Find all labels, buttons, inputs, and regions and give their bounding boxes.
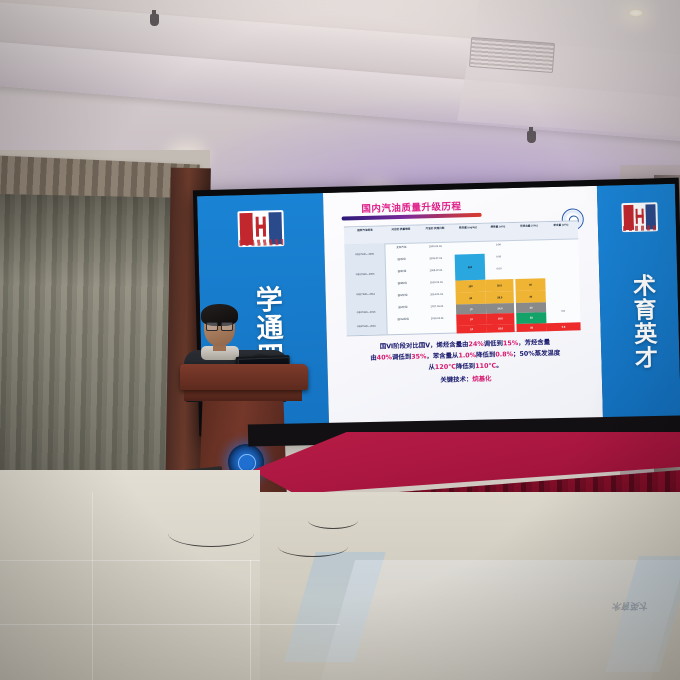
body-text: 。 bbox=[496, 361, 503, 369]
table-block-olefin: 15.0 bbox=[486, 324, 514, 333]
table-cell-aromatic bbox=[515, 254, 545, 255]
floor-cable bbox=[308, 512, 358, 529]
gasoline-standards-table: 国家汽油标准 对应的 质量等级 汽油的 实施日期 硫含量 (mg/kg) 烯烃量… bbox=[344, 220, 581, 336]
table-cell-benzene bbox=[546, 241, 576, 242]
floor-left-area bbox=[0, 470, 260, 680]
table-cell-grade: 国Ⅲ阶段 bbox=[387, 282, 417, 286]
table-cell-date: 2003-07-01 bbox=[419, 257, 453, 261]
floor-tile-seam bbox=[0, 624, 340, 625]
body-highlight: 110℃ bbox=[475, 362, 496, 371]
table-cell-grade: 国ⅥA阶段 bbox=[388, 318, 418, 322]
table-block-sulfur: 10 bbox=[456, 325, 486, 334]
led-right-panel: 术育英才 bbox=[597, 184, 680, 420]
floor-tile-seam bbox=[250, 560, 251, 680]
body-text: ；50%蒸发温度 bbox=[513, 349, 560, 358]
body-highlight: 24% bbox=[468, 340, 484, 348]
table-block-sulfur: 10 bbox=[456, 314, 486, 326]
table-block-olefin: 28.0 bbox=[486, 291, 514, 304]
table-cell-olefin: 0.00 bbox=[485, 267, 513, 271]
calligraphy-right: 术育英才 bbox=[624, 236, 656, 407]
body-text: 调低到 bbox=[484, 339, 503, 347]
key-tech-value: 烷基化 bbox=[472, 375, 491, 383]
body-highlight: 35% bbox=[411, 352, 427, 360]
table-block-aromatic: 35 bbox=[516, 312, 546, 324]
table-block-aromatic: 40 bbox=[515, 278, 545, 291]
table-cell-olefin: 0.00 bbox=[484, 243, 512, 247]
slide-body-text: 国Ⅵ阶段对比国Ⅴ，烯烃含量由24%调低到15%，芳烃含量 由40%调低到35%，… bbox=[345, 336, 586, 388]
floor-tile-seam bbox=[92, 492, 93, 680]
table-block-aromatic: 35 bbox=[516, 323, 546, 332]
floor-tile-seam bbox=[0, 560, 260, 561]
table-cell-date: 2019-01-01 bbox=[420, 317, 454, 321]
table-block-benzene: 0.8 bbox=[546, 322, 580, 331]
table-cell-aromatic bbox=[515, 266, 545, 267]
table-cell-grade: 国Ⅱ阶段 bbox=[387, 270, 417, 274]
table-cell-date: 2010-01-01 bbox=[419, 281, 453, 285]
table-cell-date: 2005-07-01 bbox=[419, 269, 453, 273]
huahai-brand-logo bbox=[237, 210, 284, 247]
table-block-sulfur: 500 bbox=[455, 254, 486, 281]
lecture-hall-photo: 学通四 国内汽油质量升级历程 国家汽油标准 对应的 质量等级 汽油的 实施日期 … bbox=[0, 0, 680, 680]
table-cell-date: 2000-01-01 bbox=[418, 245, 452, 249]
table-block-sulfur: 50 bbox=[456, 292, 486, 305]
body-highlight: 0.8% bbox=[495, 350, 513, 358]
table-cell-grade: 国Ⅴ阶段 bbox=[388, 306, 418, 310]
lectern-desktop bbox=[180, 364, 308, 390]
body-text: ，苯含量从 bbox=[426, 352, 458, 361]
floor-cable bbox=[278, 536, 348, 557]
table-cell-benzene bbox=[547, 265, 577, 266]
table-block-aromatic: 40 bbox=[516, 290, 546, 303]
table-cell-date: 2017-01-01 bbox=[420, 305, 454, 309]
presentation-slide: 国内汽油质量升级历程 国家汽油标准 对应的 质量等级 汽油的 实施日期 硫含量 … bbox=[323, 186, 603, 427]
key-tech-label: 关键技术： bbox=[440, 375, 472, 384]
ceiling-speaker-icon bbox=[150, 14, 159, 26]
body-text: 降低到 bbox=[476, 351, 495, 359]
huahai-brand-logo bbox=[621, 202, 658, 232]
table-standard-column bbox=[344, 243, 387, 335]
body-text: 降低到 bbox=[456, 362, 475, 370]
table-cell-benzene bbox=[548, 289, 578, 290]
body-highlight: 15% bbox=[503, 339, 519, 347]
floor-cable bbox=[168, 520, 254, 547]
table-block-sulfur: 150 bbox=[455, 280, 485, 293]
body-text: 国Ⅵ阶段对比国Ⅴ，烯烃含量由 bbox=[380, 340, 469, 350]
table-cell-grade: 国Ⅰ阶段 bbox=[387, 258, 417, 262]
table-cell-grade: 无铅汽油 bbox=[386, 246, 416, 250]
table-cell-grade: 国Ⅳ阶段 bbox=[388, 294, 418, 298]
body-highlight: 120℃ bbox=[435, 363, 456, 372]
air-vent-grille bbox=[469, 37, 555, 73]
ceiling-downlight bbox=[628, 9, 644, 17]
table-cell-olefin: 0.00 bbox=[485, 255, 513, 259]
body-text: ，芳烃含量 bbox=[518, 338, 550, 347]
ceiling-speaker-icon bbox=[527, 131, 536, 143]
table-block-olefin: 30.0 bbox=[485, 279, 513, 292]
body-highlight: 40% bbox=[377, 353, 393, 361]
table-cell-aromatic bbox=[514, 242, 544, 243]
table-block-olefin: 18.0 bbox=[486, 313, 514, 325]
table-cell-benzene: 0.8 bbox=[548, 309, 578, 313]
floor-reflection-text: 术育英才 bbox=[610, 600, 649, 613]
body-text: 调低到 bbox=[392, 353, 411, 361]
body-highlight: 1.0% bbox=[458, 351, 476, 359]
eyeglasses-icon bbox=[206, 322, 233, 329]
slide-title: 国内汽油质量升级历程 bbox=[361, 198, 461, 215]
table-cell-date: 2014-01-01 bbox=[420, 293, 454, 297]
